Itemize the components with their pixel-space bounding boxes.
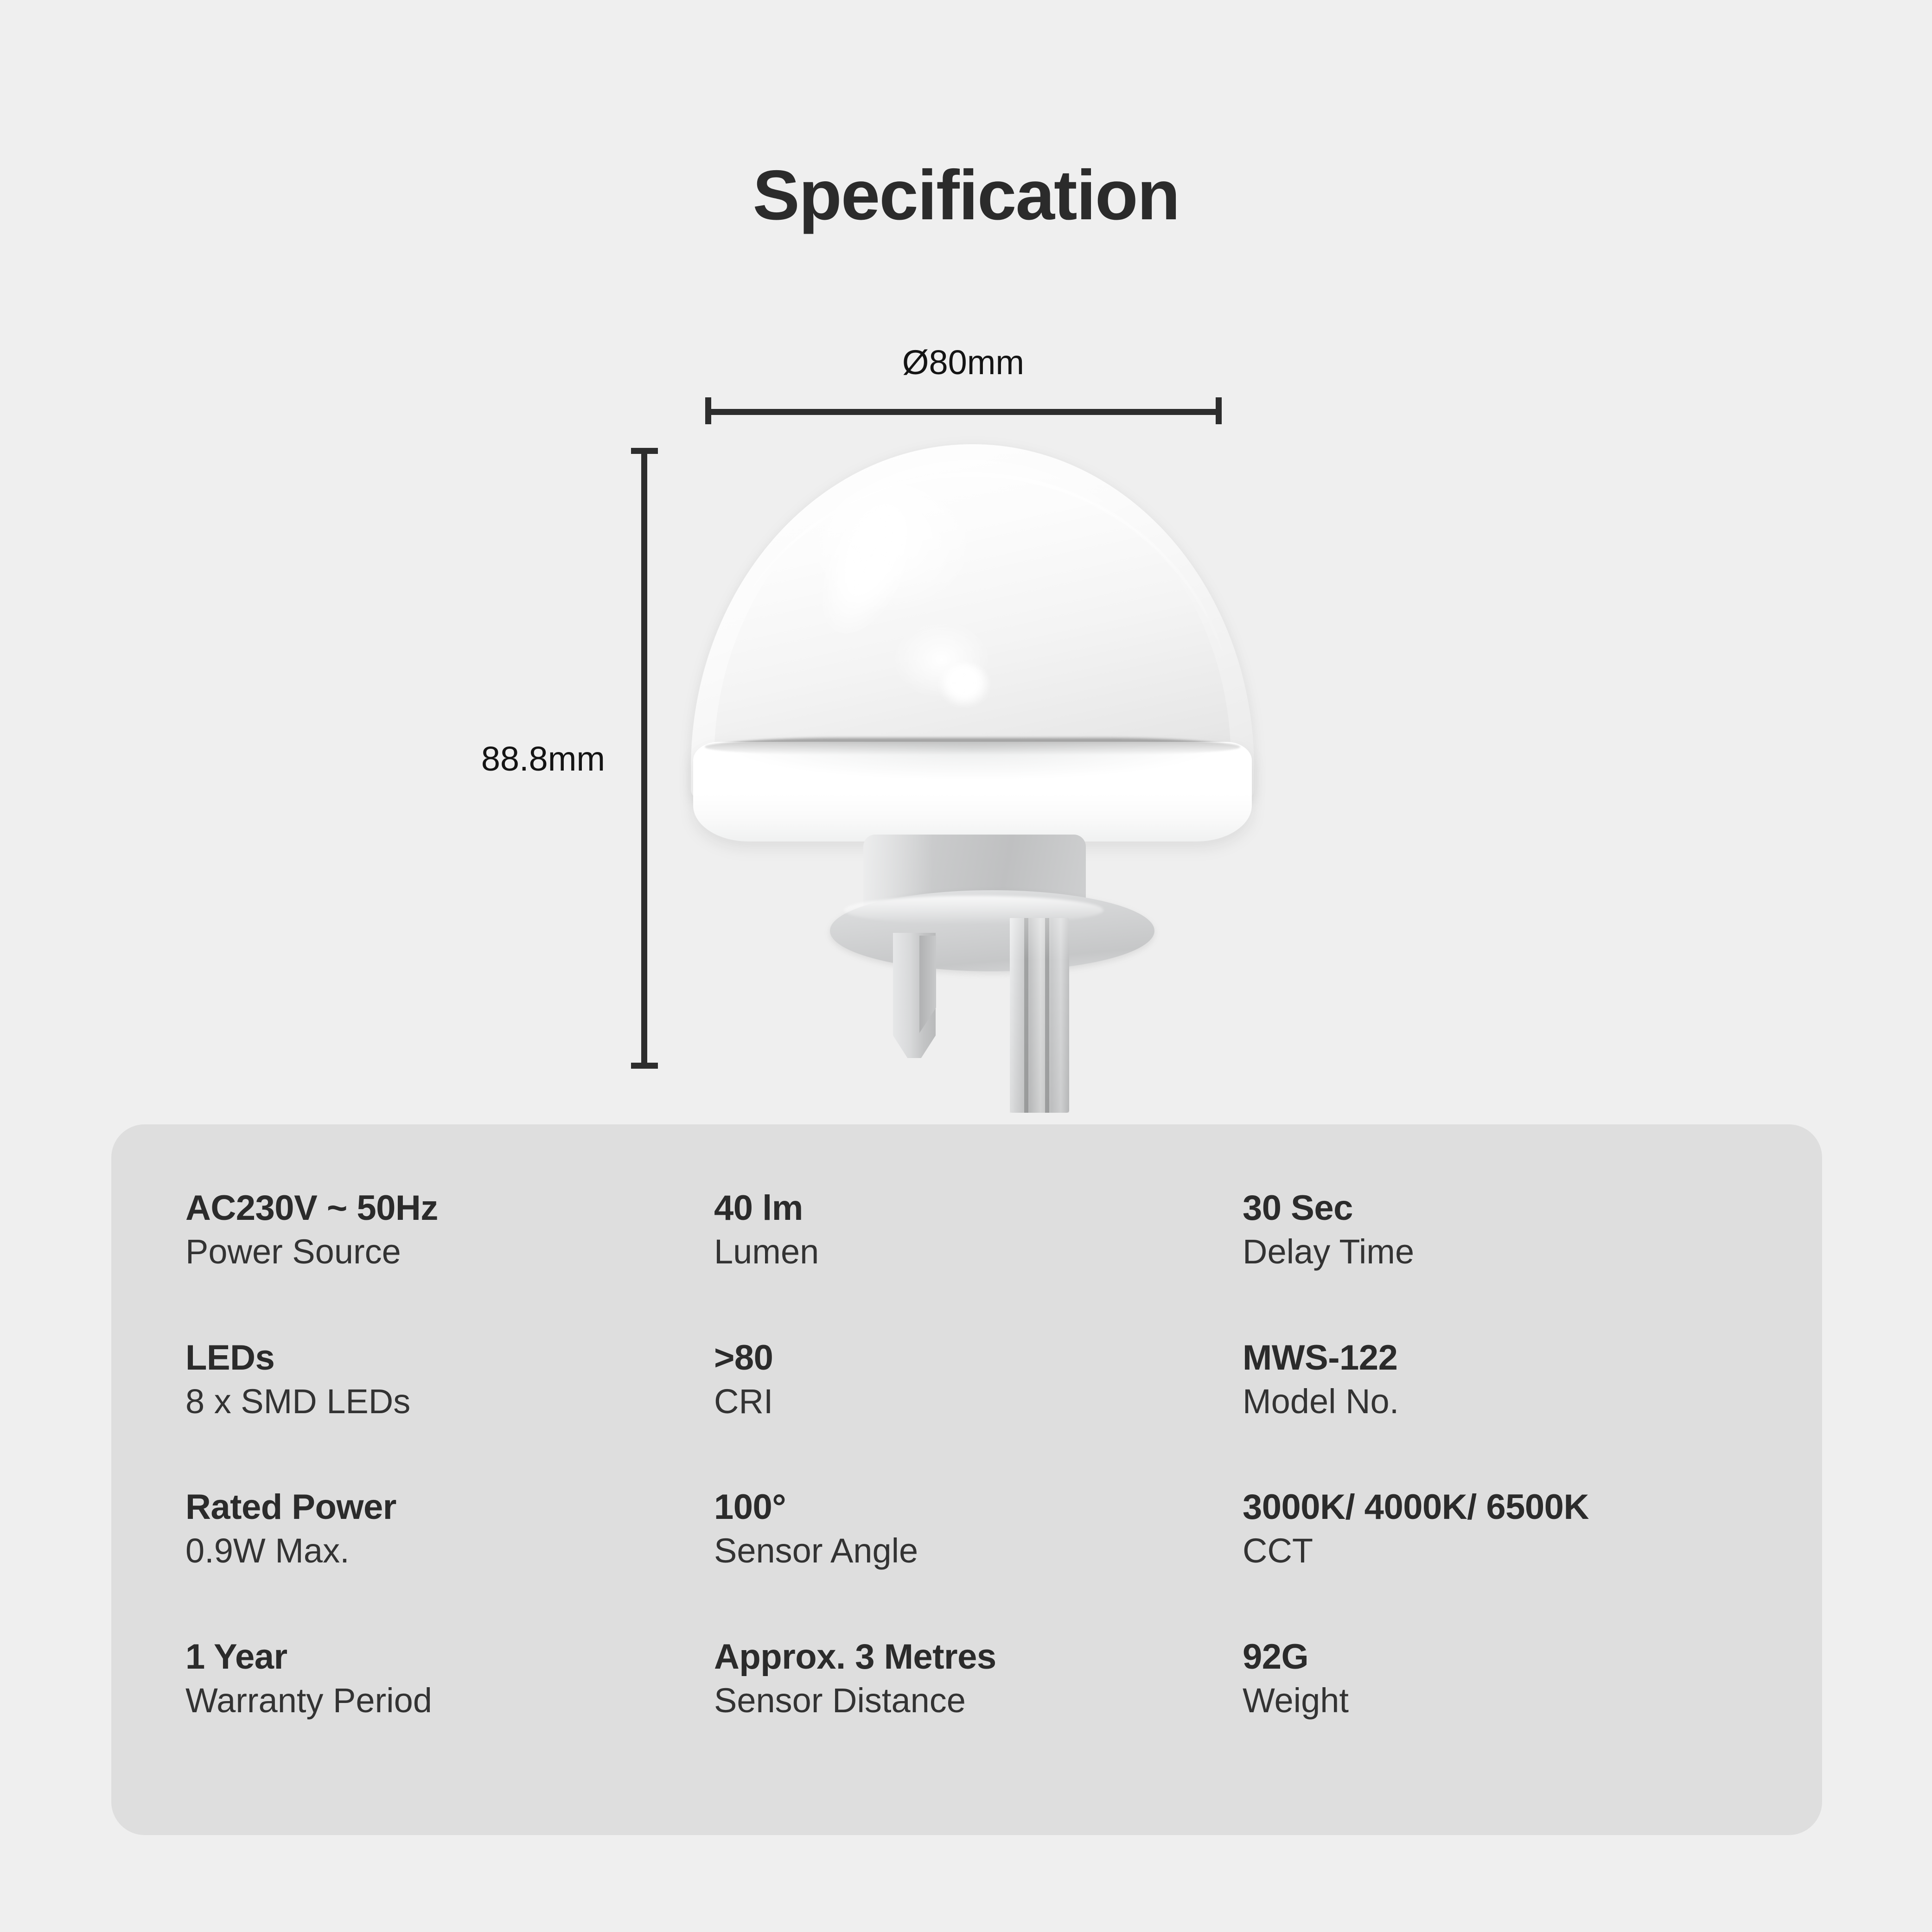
base-collar [693,742,1252,842]
specification-panel: AC230V ~ 50Hz Power Source 40 lm Lumen 3… [111,1124,1822,1835]
spec-item-lumen: 40 lm Lumen [714,1185,1243,1334]
specification-sheet: Specification Ø80mm 88.8mm AC230V ~ 50Hz [0,0,1932,1932]
spec-item-sensor-distance: Approx. 3 Metres Sensor Distance [714,1633,1243,1783]
spec-item-power-source: AC230V ~ 50Hz Power Source [185,1185,714,1334]
spec-label: CRI [714,1381,1243,1422]
spec-item-model-no: MWS-122 Model No. [1243,1334,1771,1484]
spec-item-delay-time: 30 Sec Delay Time [1243,1185,1771,1334]
page-title: Specification [0,160,1932,230]
specification-grid: AC230V ~ 50Hz Power Source 40 lm Lumen 3… [185,1185,1771,1783]
spec-item-sensor-angle: 100° Sensor Angle [714,1484,1243,1633]
spec-item-weight: 92G Weight [1243,1633,1771,1783]
height-dimension-line [641,450,647,1069]
spec-value: 100° [714,1487,1243,1527]
height-dimension-label: 88.8mm [420,742,605,776]
spec-label: CCT [1243,1530,1771,1572]
base-collar-rim [705,739,1240,755]
spec-value: 40 lm [714,1188,1243,1228]
spec-item-cri: >80 CRI [714,1334,1243,1484]
diameter-dimension-line [707,409,1219,415]
spec-value: >80 [714,1338,1243,1377]
spec-label: Warranty Period [185,1680,714,1722]
spec-value: 3000K/ 4000K/ 6500K [1243,1487,1771,1527]
spec-item-leds: LEDs 8 x SMD LEDs [185,1334,714,1484]
spec-label: Power Source [185,1231,714,1273]
height-tick-top-icon [631,448,658,454]
spec-value: Rated Power [185,1487,714,1527]
spec-label: Sensor Distance [714,1680,1243,1722]
spec-item-cct: 3000K/ 4000K/ 6500K CCT [1243,1484,1771,1633]
height-tick-bottom-icon [631,1063,658,1069]
spec-item-rated-power: Rated Power 0.9W Max. [185,1484,714,1633]
spec-label: 8 x SMD LEDs [185,1381,714,1422]
diameter-dimension-label: Ø80mm [707,345,1219,380]
spec-value: AC230V ~ 50Hz [185,1188,714,1228]
spec-value: LEDs [185,1338,714,1377]
spec-label: Weight [1243,1680,1771,1722]
terminal-pin-ribbed-shading [1010,918,1069,1113]
spec-label: Lumen [714,1231,1243,1273]
spec-label: Delay Time [1243,1231,1771,1273]
product-image [663,417,1284,1113]
spec-value: Approx. 3 Metres [714,1637,1243,1677]
spec-label: Sensor Angle [714,1530,1243,1572]
spec-label: Model No. [1243,1381,1771,1422]
spec-item-warranty-period: 1 Year Warranty Period [185,1633,714,1783]
spec-value: MWS-122 [1243,1338,1771,1377]
dome-specular-highlight-secondary [939,663,990,707]
spec-value: 30 Sec [1243,1188,1771,1228]
spec-label: 0.9W Max. [185,1530,714,1572]
spec-value: 92G [1243,1637,1771,1677]
spec-value: 1 Year [185,1637,714,1677]
